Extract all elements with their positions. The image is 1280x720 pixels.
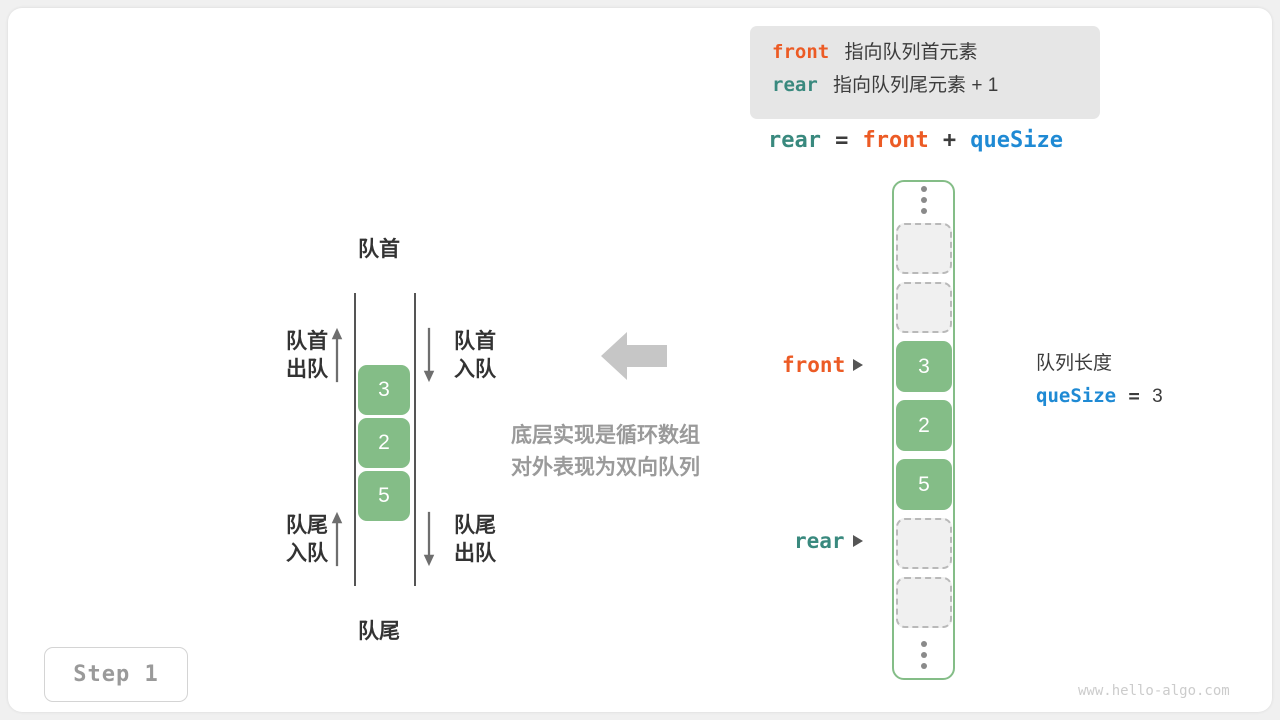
deque-head-label: 队首 <box>358 236 400 264</box>
head-push-label-line2: 入队 <box>454 356 496 384</box>
array-cell-2-value: 3 <box>918 355 930 379</box>
watermark: www.hello-algo.com <box>1078 683 1230 699</box>
queue-size-note: 队列长度 queSize = 3 <box>1036 347 1163 413</box>
rear-pointer: rear <box>794 529 863 553</box>
deque-channel-left-line <box>354 293 356 586</box>
array-cell-5 <box>896 518 952 569</box>
head-pop-up-arrow-icon <box>330 324 344 386</box>
array-cell-3-value: 2 <box>918 414 930 438</box>
queue-size-number: 3 <box>1152 386 1163 407</box>
tail-pop-down-arrow-icon <box>422 508 436 570</box>
queue-size-title: 队列长度 <box>1036 347 1163 380</box>
tail-push-label-line2: 入队 <box>258 540 328 568</box>
legend-rear-desc: 指向队列尾元素 + 1 <box>833 75 998 96</box>
deque-cell-2: 5 <box>358 471 410 521</box>
implementation-note-line2: 对外表现为双向队列 <box>511 452 700 484</box>
array-bottom-ellipsis-icon <box>916 641 932 669</box>
equation-plus: + <box>943 128 956 153</box>
implementation-note-line1: 底层实现是循环数组 <box>511 420 700 452</box>
tail-push-up-arrow-icon <box>330 508 344 570</box>
tail-pop-label: 队尾 出队 <box>454 512 496 568</box>
diagram-canvas: front 指向队列首元素 rear 指向队列尾元素 + 1 rear = fr… <box>0 0 1280 720</box>
queue-size-var: queSize <box>1036 385 1116 407</box>
rear-pointer-label: rear <box>794 529 845 553</box>
head-pop-label-line2: 出队 <box>258 356 328 384</box>
array-cell-4: 5 <box>896 459 952 510</box>
legend-front-name: front <box>772 41 829 63</box>
deque-cell-0: 3 <box>358 365 410 415</box>
deque-cell-0-value: 3 <box>378 378 390 402</box>
array-cell-4-value: 5 <box>918 473 930 497</box>
equation-lhs: rear <box>768 128 821 153</box>
tail-pop-label-line1: 队尾 <box>454 512 496 540</box>
mapping-left-arrow-icon <box>601 330 667 382</box>
tail-push-label-line1: 队尾 <box>258 512 328 540</box>
legend-box: front 指向队列首元素 rear 指向队列尾元素 + 1 <box>750 26 1100 119</box>
equation-operand-front: front <box>862 128 928 153</box>
deque-cell-1: 2 <box>358 418 410 468</box>
front-pointer-arrow-icon <box>853 359 863 371</box>
front-pointer-label: front <box>782 353 845 377</box>
array-top-ellipsis-icon <box>916 186 932 214</box>
head-pop-label-line1: 队首 <box>258 328 328 356</box>
equation-operand-quesize: queSize <box>970 128 1063 153</box>
head-push-down-arrow-icon <box>422 324 436 386</box>
queue-size-value-row: queSize = 3 <box>1036 380 1163 413</box>
array-cell-6 <box>896 577 952 628</box>
tail-pop-label-line2: 出队 <box>454 540 496 568</box>
head-pop-label: 队首 出队 <box>258 328 328 384</box>
front-pointer: front <box>782 353 863 377</box>
deque-channel-right-line <box>414 293 416 586</box>
deque-cell-1-value: 2 <box>378 431 390 455</box>
array-cell-0 <box>896 223 952 274</box>
array-cell-1 <box>896 282 952 333</box>
array-cell-3: 2 <box>896 400 952 451</box>
step-badge: Step 1 <box>44 647 188 702</box>
deque-cell-2-value: 5 <box>378 484 390 508</box>
legend-front-row: front 指向队列首元素 <box>772 37 978 64</box>
equation-equals: = <box>835 128 848 153</box>
legend-front-desc: 指向队列首元素 <box>844 42 977 63</box>
legend-rear-name: rear <box>772 74 818 96</box>
deque-tail-label: 队尾 <box>358 618 400 646</box>
pointer-equation: rear = front + queSize <box>768 127 1063 153</box>
implementation-note: 底层实现是循环数组 对外表现为双向队列 <box>511 420 700 484</box>
array-cell-2: 3 <box>896 341 952 392</box>
queue-size-equals: = <box>1128 385 1139 407</box>
diagram-card: front 指向队列首元素 rear 指向队列尾元素 + 1 rear = fr… <box>8 8 1272 712</box>
legend-rear-row: rear 指向队列尾元素 + 1 <box>772 70 998 97</box>
head-push-label-line1: 队首 <box>454 328 496 356</box>
rear-pointer-arrow-icon <box>853 535 863 547</box>
head-push-label: 队首 入队 <box>454 328 496 384</box>
tail-push-label: 队尾 入队 <box>258 512 328 568</box>
